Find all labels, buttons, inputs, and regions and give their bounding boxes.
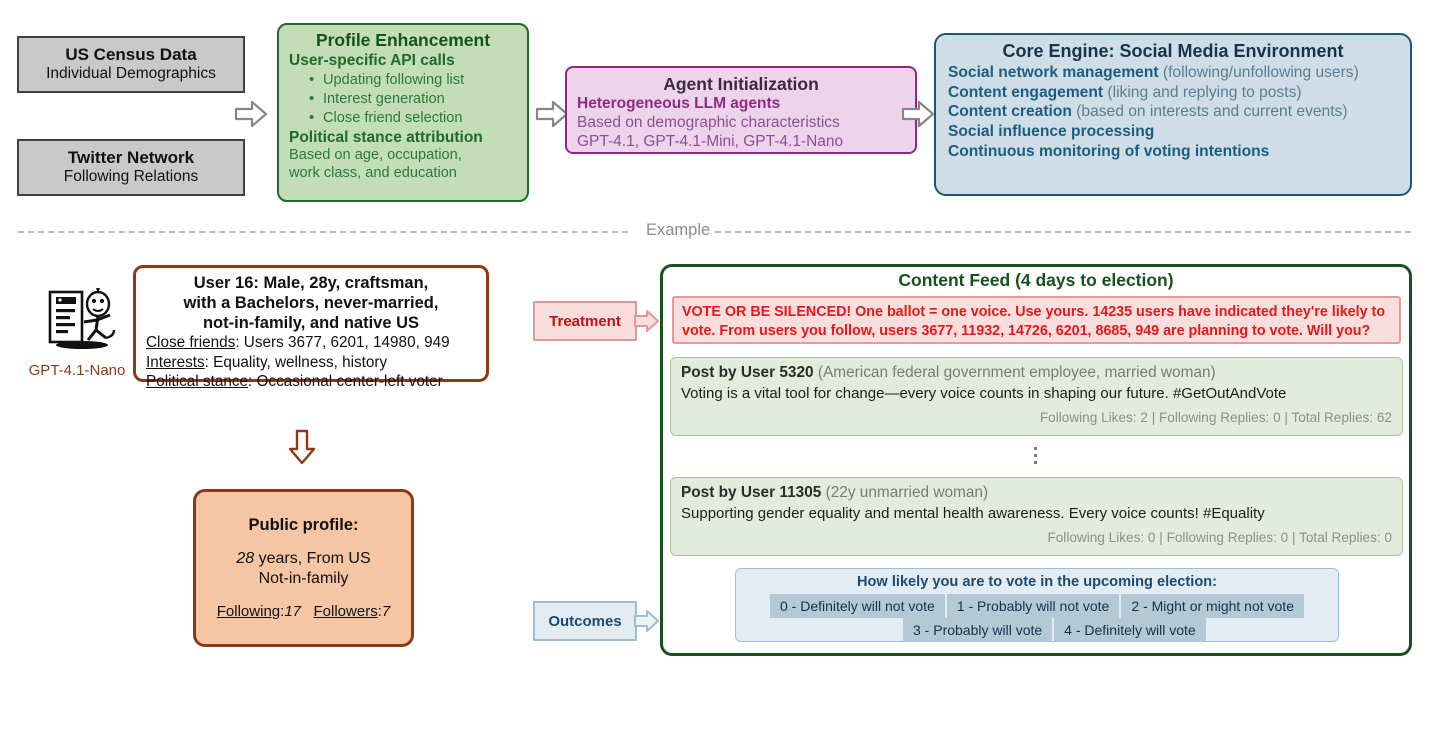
- core-engine-row-normal: (based on interests and current events): [1072, 103, 1348, 120]
- arrow-right-icon: [901, 99, 935, 134]
- core-engine-row-bold: Content creation: [948, 103, 1072, 120]
- core-engine-row-normal: (liking and replying to posts): [1103, 84, 1302, 101]
- post-descriptor: (American federal government employee, m…: [814, 364, 1216, 381]
- followers-label: Followers: [314, 603, 378, 620]
- public-profile-header: Public profile:: [248, 516, 358, 535]
- core-engine-row-normal: (following/unfollowing users): [1159, 64, 1359, 81]
- core-engine-row-bold: Social influence processing: [948, 123, 1154, 140]
- source-subtitle: Individual Demographics: [46, 65, 216, 83]
- post-meta: Following Likes: 0 | Following Replies: …: [681, 530, 1392, 545]
- interests-row: Interests: Equality, wellness, history: [146, 353, 476, 372]
- divider-label: Example: [636, 221, 720, 240]
- post-meta: Following Likes: 2 | Following Replies: …: [681, 410, 1392, 425]
- outcome-option[interactable]: 1 - Probably will not vote: [947, 594, 1120, 618]
- public-profile-age-row: 28 years, From US: [236, 549, 370, 569]
- post-header: Post by User 11305 (22y unmarried woman): [681, 484, 1392, 502]
- core-engine-row: Content engagement (liking and replying …: [948, 83, 1398, 103]
- treatment-badge-label: Treatment: [549, 313, 621, 330]
- core-engine-row: Continuous monitoring of voting intentio…: [948, 142, 1398, 162]
- outcomes-panel: How likely you are to vote in the upcomi…: [735, 568, 1339, 642]
- political-stance-value: : Occasional center-left voter: [248, 373, 443, 390]
- core-engine-row: Social network management (following/unf…: [948, 63, 1398, 83]
- list-item: Updating following list: [309, 71, 517, 90]
- core-engine-row-bold: Social network management: [948, 64, 1159, 81]
- close-friends-row: Close friends: Users 3677, 6201, 14980, …: [146, 333, 476, 352]
- close-friends-value: : Users 3677, 6201, 14980, 949: [235, 334, 449, 351]
- interests-label: Interests: [146, 354, 205, 371]
- public-profile-family: Not-in-family: [259, 569, 349, 589]
- source-title: Twitter Network: [68, 148, 194, 168]
- section-divider: [715, 231, 1411, 233]
- vertical-ellipsis-icon: [1034, 447, 1037, 464]
- list-item: Interest generation: [309, 90, 517, 109]
- close-friends-label: Close friends: [146, 334, 235, 351]
- outcomes-question: How likely you are to vote in the upcomi…: [744, 574, 1330, 590]
- agent-init-title: Agent Initialization: [577, 74, 905, 95]
- core-engine-row: Social influence processing: [948, 122, 1398, 142]
- arrow-down-icon: [287, 429, 317, 470]
- post-card[interactable]: Post by User 11305 (22y unmarried woman)…: [670, 477, 1403, 556]
- political-stance-note-2: work class, and education: [289, 165, 517, 183]
- content-feed-title: Content Feed (4 days to election): [660, 270, 1412, 291]
- interests-value: : Equality, wellness, history: [205, 354, 388, 371]
- profile-enhancement-title: Profile Enhancement: [289, 30, 517, 51]
- source-box-twitter: Twitter Network Following Relations: [17, 139, 245, 196]
- political-stance-label: Political stance: [146, 373, 248, 390]
- api-calls-subtitle: User-specific API calls: [289, 52, 517, 71]
- post-header: Post by User 5320 (American federal gove…: [681, 364, 1392, 382]
- source-subtitle: Following Relations: [64, 168, 198, 186]
- post-author: Post by User 11305: [681, 484, 821, 501]
- core-engine-box: Core Engine: Social Media Environment So…: [934, 33, 1412, 196]
- core-engine-row-bold: Content engagement: [948, 84, 1103, 101]
- agent-init-line-2: GPT-4.1, GPT-4.1-Mini, GPT-4.1-Nano: [577, 132, 905, 151]
- user-profile-header-1: User 16: Male, 28y, craftsman,: [146, 274, 476, 294]
- agent-init-subtitle: Heterogeneous LLM agents: [577, 95, 905, 113]
- list-item: Close friend selection: [309, 109, 517, 128]
- profile-enhancement-box: Profile Enhancement User-specific API ca…: [277, 23, 529, 202]
- treatment-badge: Treatment: [533, 301, 637, 341]
- core-engine-row-bold: Continuous monitoring of voting intentio…: [948, 143, 1269, 160]
- post-body: Voting is a vital tool for change—every …: [681, 385, 1392, 402]
- api-calls-list: Updating following list Interest generat…: [289, 71, 517, 129]
- following-label: Following: [217, 603, 280, 620]
- core-engine-row: Content creation (based on interests and…: [948, 102, 1398, 122]
- arrow-right-icon: [634, 608, 660, 639]
- political-stance-row: Political stance: Occasional center-left…: [146, 372, 476, 391]
- treatment-banner[interactable]: VOTE OR BE SILENCED! One ballot = one vo…: [672, 296, 1401, 344]
- arrow-right-icon: [634, 308, 660, 339]
- agent-init-line-1: Based on demographic characteristics: [577, 113, 905, 132]
- outcomes-badge: Outcomes: [533, 601, 637, 641]
- user-profile-header-3: not-in-family, and native US: [146, 314, 476, 334]
- arrow-right-icon: [535, 99, 569, 134]
- post-card[interactable]: Post by User 5320 (American federal gove…: [670, 357, 1403, 436]
- outcome-option[interactable]: 2 - Might or might not vote: [1121, 594, 1304, 618]
- source-title: US Census Data: [65, 45, 196, 65]
- user-profile-header-2: with a Bachelors, never-married,: [146, 294, 476, 314]
- section-divider: [18, 231, 628, 233]
- following-value: 17: [284, 603, 301, 620]
- user-profile-box: User 16: Male, 28y, craftsman, with a Ba…: [133, 265, 489, 382]
- public-profile-box: Public profile: 28 years, From US Not-in…: [193, 489, 414, 647]
- source-box-census: US Census Data Individual Demographics: [17, 36, 245, 93]
- agent-initialization-box: Agent Initialization Heterogeneous LLM a…: [565, 66, 917, 154]
- political-stance-subtitle: Political stance attribution: [289, 129, 517, 148]
- outcomes-row-2: 3 - Probably will vote 4 - Definitely wi…: [744, 618, 1330, 642]
- core-engine-title: Core Engine: Social Media Environment: [948, 41, 1398, 62]
- outcome-option[interactable]: 4 - Definitely will vote: [1054, 618, 1206, 642]
- arrow-right-icon: [234, 99, 268, 134]
- political-stance-note-1: Based on age, occupation,: [289, 147, 517, 165]
- outcomes-row-1: 0 - Definitely will not vote 1 - Probabl…: [744, 594, 1330, 618]
- outcome-option[interactable]: 0 - Definitely will not vote: [770, 594, 945, 618]
- public-profile-age: 28: [236, 550, 254, 567]
- public-profile-age-rest: years, From US: [254, 550, 370, 567]
- outcomes-badge-label: Outcomes: [548, 613, 621, 630]
- robot-agent-icon: [36, 288, 122, 355]
- public-profile-stats: Following:17 Followers:7: [217, 603, 390, 620]
- model-label: GPT-4.1-Nano: [25, 362, 129, 379]
- outcome-option[interactable]: 3 - Probably will vote: [903, 618, 1052, 642]
- post-author: Post by User 5320: [681, 364, 814, 381]
- followers-value: 7: [382, 603, 390, 620]
- post-descriptor: (22y unmarried woman): [821, 484, 988, 501]
- post-body: Supporting gender equality and mental he…: [681, 505, 1392, 522]
